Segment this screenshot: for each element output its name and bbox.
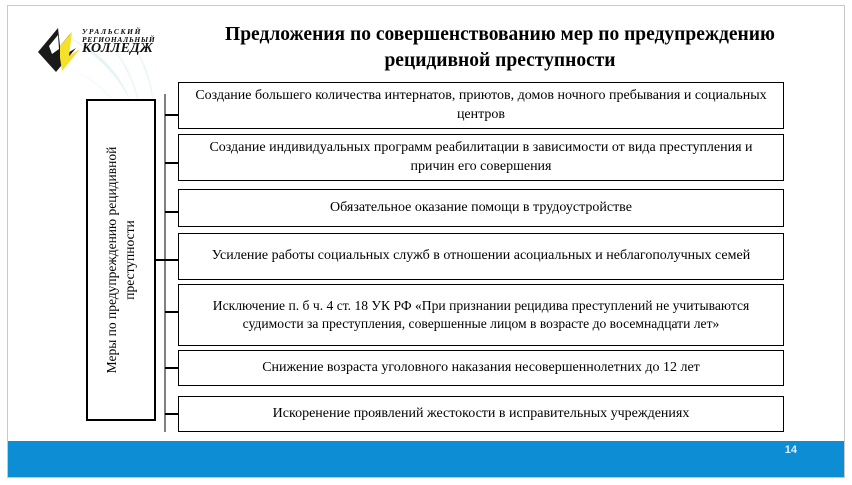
diagram-box-text: Исключение п. б ч. 4 ст. 18 УК РФ «При п… <box>187 297 775 332</box>
logo-arrow-icon <box>36 26 86 74</box>
diagram-box-text: Снижение возраста уголовного наказания н… <box>262 359 700 378</box>
diagram-root-label: Меры по предупреждению рецидивной престу… <box>103 110 139 410</box>
diagram-box-text: Искоренение проявлений жестокости в испр… <box>273 405 690 424</box>
diagram-box: Создание большего количества интернатов,… <box>178 82 784 129</box>
footer-bar <box>8 441 844 477</box>
diagram-box-text: Создание индивидуальных программ реабили… <box>187 139 775 177</box>
connector-trunk <box>164 94 166 432</box>
slide-canvas: УРАЛЬСКИЙ РЕГИОНАЛЬНЫЙ КОЛЛЕДЖ Предложен… <box>7 5 845 478</box>
connector-branch <box>165 211 179 213</box>
connector-branch <box>165 162 179 164</box>
connector-branch <box>165 114 179 116</box>
diagram-box: Усиление работы социальных служб в отнош… <box>178 233 784 280</box>
connector-branch <box>165 413 179 415</box>
connector-branch <box>165 259 179 261</box>
connector-branch <box>165 367 179 369</box>
diagram-box-text: Обязательное оказание помощи в трудоустр… <box>330 199 632 218</box>
college-logo: УРАЛЬСКИЙ РЕГИОНАЛЬНЫЙ КОЛЛЕДЖ <box>36 20 166 80</box>
diagram-box: Искоренение проявлений жестокости в испр… <box>178 396 784 432</box>
page-number: 14 <box>785 444 797 456</box>
connector-root-stub <box>156 259 165 261</box>
diagram-box-text: Создание большего количества интернатов,… <box>187 87 775 125</box>
diagram-box: Исключение п. б ч. 4 ст. 18 УК РФ «При п… <box>178 284 784 346</box>
connector-branch <box>165 311 179 313</box>
logo-line-3: КОЛЛЕДЖ <box>82 42 170 56</box>
diagram-box: Обязательное оказание помощи в трудоустр… <box>178 189 784 227</box>
diagram-root-box: Меры по предупреждению рецидивной престу… <box>86 99 156 421</box>
diagram-box: Снижение возраста уголовного наказания н… <box>178 350 784 386</box>
diagram-box: Создание индивидуальных программ реабили… <box>178 134 784 181</box>
diagram-box-text: Усиление работы социальных служб в отнош… <box>212 247 750 266</box>
slide-title: Предложения по совершенствованию мер по … <box>200 22 800 73</box>
